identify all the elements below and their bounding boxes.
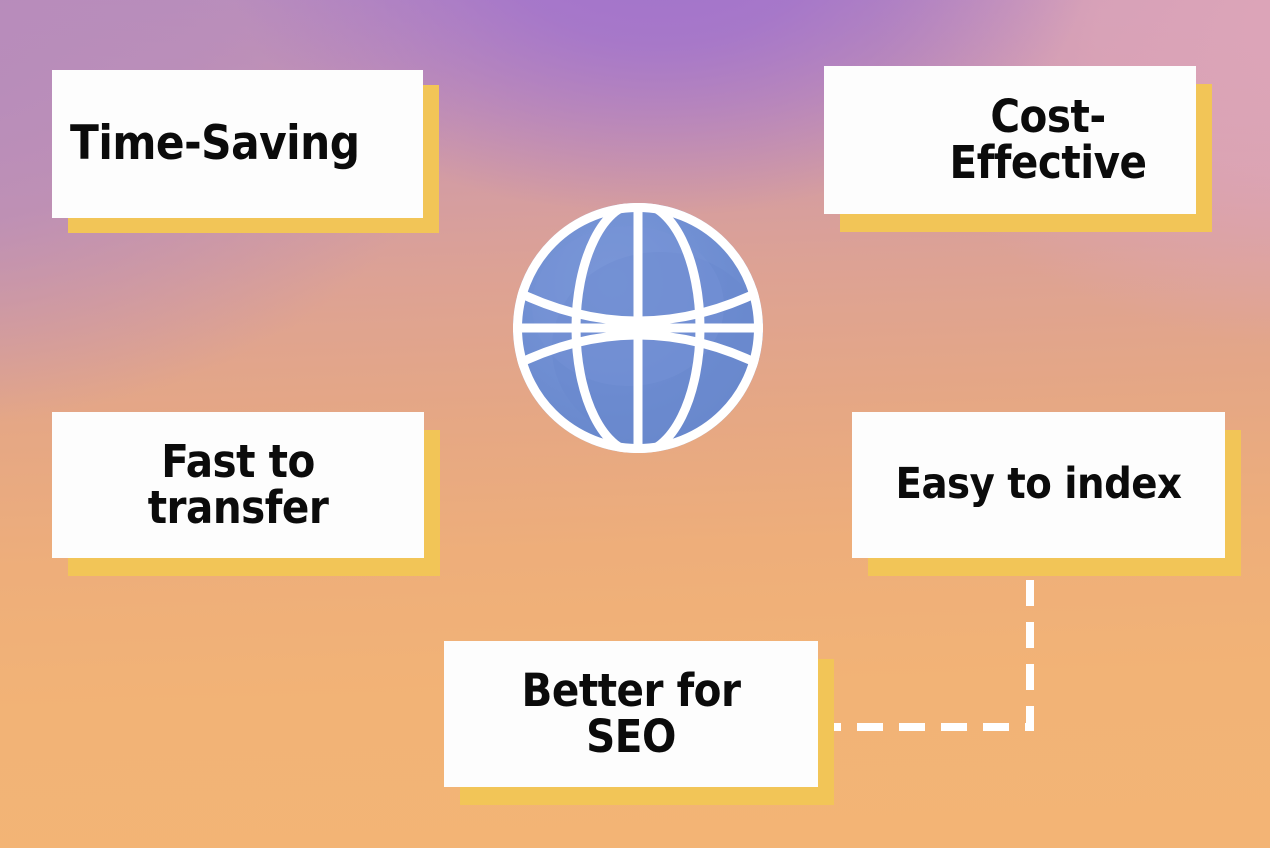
card-surface[interactable]: Cost- Effective — [824, 66, 1196, 214]
card-label-cost-effective: Cost- Effective — [824, 94, 1196, 186]
card-time-saving[interactable]: Time-Saving — [52, 70, 438, 233]
card-surface[interactable]: Easy to index — [852, 412, 1225, 558]
card-easy-to-index[interactable]: Easy to index — [852, 412, 1241, 576]
card-fast-to-transfer[interactable]: Fast to transfer — [52, 412, 440, 576]
card-surface[interactable]: Time-Saving — [52, 70, 423, 218]
card-surface[interactable]: Fast to transfer — [52, 412, 424, 558]
globe-icon — [508, 198, 768, 458]
globe-grid — [508, 198, 768, 458]
infographic-canvas: Time-Saving Cost- Effective Fast to tran… — [0, 0, 1270, 848]
card-label-better-for-seo: Better for SEO — [522, 668, 741, 760]
connector-path — [833, 580, 1030, 727]
card-surface[interactable]: Better for SEO — [444, 641, 818, 787]
card-label-fast-to-transfer: Fast to transfer — [148, 439, 329, 531]
card-cost-effective[interactable]: Cost- Effective — [824, 66, 1212, 232]
card-label-easy-to-index: Easy to index — [896, 463, 1182, 507]
card-better-for-seo[interactable]: Better for SEO — [444, 641, 834, 805]
card-label-time-saving: Time-Saving — [52, 120, 423, 168]
